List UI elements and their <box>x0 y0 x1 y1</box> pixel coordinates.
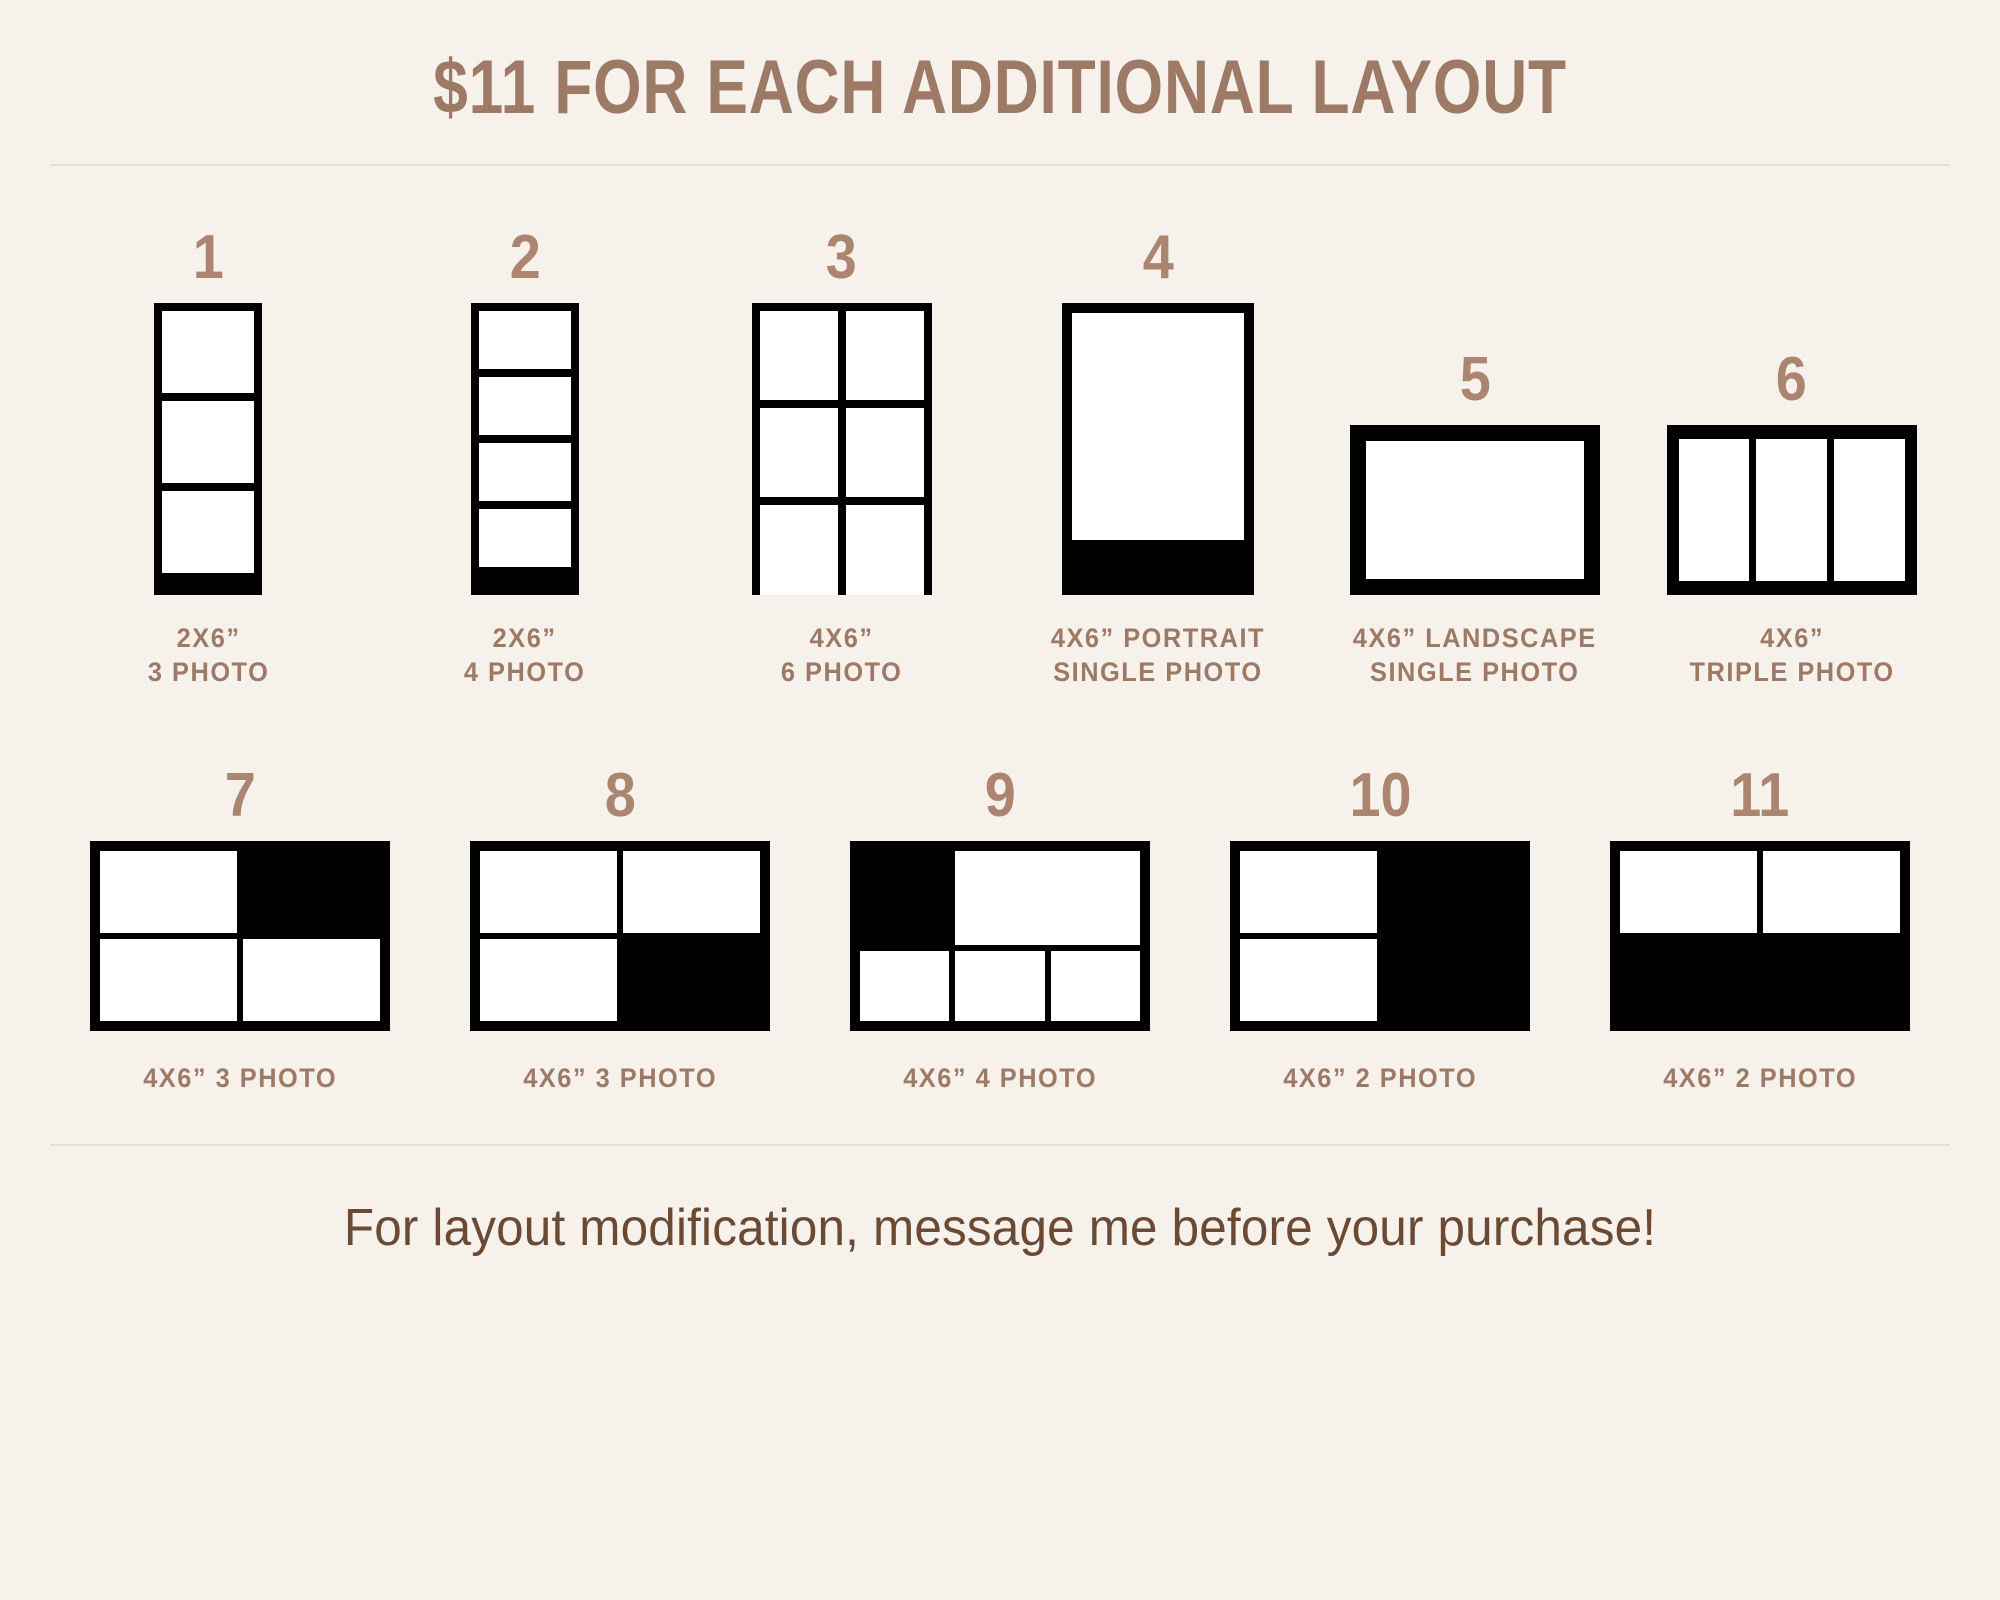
layout-preview-mosaic-8 <box>470 841 770 1031</box>
photo-slot <box>1763 851 1900 933</box>
layout-number: 7 <box>224 765 255 827</box>
layout-option-11[interactable]: 11 4X6” 2 PHOTO <box>1570 765 1950 1096</box>
layout-option-8[interactable]: 8 4X6” 3 PHOTO <box>430 765 810 1096</box>
layout-preview-portrait-single <box>1062 303 1254 595</box>
layout-label: 4X6” 2 PHOTO <box>1283 1061 1477 1096</box>
photo-slot <box>760 408 838 497</box>
photo-slot <box>623 851 760 933</box>
layout-row-1: 1 2X6” 3 PHOTO 2 2X6” 4 PHOTO <box>50 210 1950 690</box>
layout-option-4[interactable]: 4 4X6” PORTRAIT SINGLE PHOTO <box>1000 227 1317 690</box>
photo-slot <box>760 505 838 594</box>
photo-slot <box>479 509 571 567</box>
photo-slot <box>1679 439 1750 581</box>
layout-option-5[interactable]: 5 4X6” LANDSCAPE SINGLE PHOTO <box>1317 349 1634 690</box>
photo-slot <box>760 311 838 400</box>
photo-slot <box>1834 439 1905 581</box>
layout-preview-mosaic-10 <box>1230 841 1530 1031</box>
layout-label: 4X6” PORTRAIT SINGLE PHOTO <box>1051 621 1265 690</box>
layout-preview-triple <box>1667 425 1917 595</box>
photo-slot <box>846 311 924 400</box>
photo-slot <box>860 951 949 1021</box>
layout-preview-mosaic-11 <box>1610 841 1910 1031</box>
photo-slot <box>162 491 254 573</box>
layout-option-9[interactable]: 9 4X6” 4 PHOTO <box>810 765 1190 1096</box>
layout-option-6[interactable]: 6 4X6” TRIPLE PHOTO <box>1633 349 1950 690</box>
layout-label: 4X6” 3 PHOTO <box>523 1061 717 1096</box>
divider-top <box>50 164 1950 166</box>
layout-number: 3 <box>826 227 857 289</box>
page-title: $11 FOR EACH ADDITIONAL LAYOUT <box>180 48 1820 128</box>
layout-preview-grid-6 <box>752 303 932 595</box>
photo-slot <box>1240 851 1377 933</box>
photo-slot <box>1756 439 1827 581</box>
layout-option-2[interactable]: 2 2X6” 4 PHOTO <box>367 227 684 690</box>
photo-slot <box>1366 441 1584 579</box>
photo-slot <box>479 311 571 369</box>
photo-slot <box>846 505 924 594</box>
photo-slot <box>479 377 571 435</box>
poster-header: $11 FOR EACH ADDITIONAL LAYOUT <box>0 0 2000 128</box>
layout-number: 9 <box>984 765 1015 827</box>
photo-slot <box>243 939 380 1021</box>
layout-label: 4X6” LANDSCAPE SINGLE PHOTO <box>1353 621 1597 690</box>
photo-slot <box>1240 939 1377 1021</box>
photo-slot <box>479 443 571 501</box>
layout-option-3[interactable]: 3 4X6” 6 PHOTO <box>683 227 1000 690</box>
layout-preview-strip-3 <box>154 303 262 595</box>
layout-number: 10 <box>1349 765 1411 827</box>
layout-preview-mosaic-7 <box>90 841 390 1031</box>
photo-slot <box>162 311 254 393</box>
layout-number: 4 <box>1143 227 1174 289</box>
layout-label: 4X6” 4 PHOTO <box>903 1061 1097 1096</box>
layout-row-2: 7 4X6” 3 PHOTO 8 4X6” 3 PHOTO <box>50 736 1950 1096</box>
layout-option-10[interactable]: 10 4X6” 2 PHOTO <box>1190 765 1570 1096</box>
photo-slot <box>480 851 617 933</box>
photo-slot <box>1072 313 1244 540</box>
photo-slot <box>846 408 924 497</box>
layout-grid: 1 2X6” 3 PHOTO 2 2X6” 4 PHOTO <box>0 210 2000 1096</box>
layout-number: 2 <box>509 227 540 289</box>
photo-slot <box>955 951 1044 1021</box>
layout-label: 2X6” 3 PHOTO <box>148 621 269 690</box>
photo-slot <box>480 939 617 1021</box>
layout-number: 5 <box>1460 349 1491 411</box>
poster-footer: For layout modification, message me befo… <box>0 1146 2000 1258</box>
layout-option-7[interactable]: 7 4X6” 3 PHOTO <box>50 765 430 1096</box>
photo-slot <box>162 401 254 483</box>
layout-options-poster: $11 FOR EACH ADDITIONAL LAYOUT 1 2X6” 3 … <box>0 0 2000 1600</box>
photo-slot <box>100 851 237 933</box>
layout-label: 4X6” 2 PHOTO <box>1663 1061 1857 1096</box>
layout-label: 4X6” 6 PHOTO <box>781 621 902 690</box>
photo-slot <box>955 851 1140 945</box>
layout-preview-landscape-single <box>1350 425 1600 595</box>
layout-preview-mosaic-9 <box>850 841 1150 1031</box>
layout-number: 8 <box>604 765 635 827</box>
layout-label: 4X6” TRIPLE PHOTO <box>1689 621 1894 690</box>
layout-number: 1 <box>193 227 224 289</box>
layout-preview-strip-4 <box>471 303 579 595</box>
layout-number: 11 <box>1730 765 1789 827</box>
photo-slot <box>1620 851 1757 933</box>
layout-label: 2X6” 4 PHOTO <box>464 621 585 690</box>
photo-slot <box>100 939 237 1021</box>
footer-note: For layout modification, message me befo… <box>50 1198 1950 1258</box>
photo-slot <box>1051 951 1140 1021</box>
layout-number: 6 <box>1776 349 1807 411</box>
layout-label: 4X6” 3 PHOTO <box>143 1061 337 1096</box>
layout-option-1[interactable]: 1 2X6” 3 PHOTO <box>50 227 367 690</box>
